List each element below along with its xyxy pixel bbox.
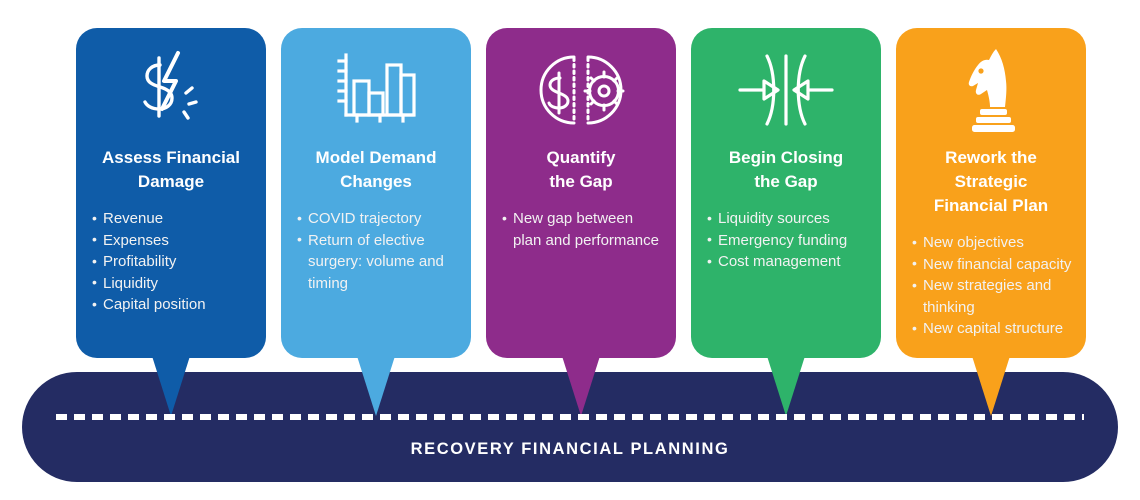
card-pointer-3 [562, 356, 600, 416]
card-title: Begin Closing the Gap [691, 146, 881, 194]
list-item: Liquidity sources [707, 208, 869, 230]
step-card-model-demand-changes[interactable]: Model Demand Changes COVID trajectory Re… [281, 28, 471, 358]
card-bullet-list: Liquidity sources Emergency funding Cost… [691, 208, 881, 273]
list-item: Return of elective surgery: volume and t… [297, 230, 459, 295]
step-card-quantify-the-gap[interactable]: Quantify the Gap New gap between plan an… [486, 28, 676, 358]
step-card-rework-the-strategic-financial-plan[interactable]: Rework the Strategic Financial Plan New … [896, 28, 1086, 358]
card-pointer-5 [972, 356, 1010, 416]
bar-chart-icon [281, 28, 471, 146]
card-bullet-list: New gap between plan and performance [486, 208, 676, 251]
list-item: New financial capacity [912, 254, 1074, 276]
dollar-lightning-icon [76, 28, 266, 146]
list-item: Profitability [92, 251, 254, 273]
dollar-gear-split-circle-icon [486, 28, 676, 146]
list-item: New gap between plan and performance [502, 208, 664, 251]
list-item: New capital structure [912, 318, 1074, 340]
card-pointer-4 [767, 356, 805, 416]
card-bullet-list: Revenue Expenses Profitability Liquidity… [76, 208, 266, 316]
card-pointer-1 [152, 356, 190, 416]
card-bullet-list: New objectives New financial capacity Ne… [896, 232, 1086, 340]
arrows-closing-gap-icon [691, 28, 881, 146]
card-bullet-list: COVID trajectory Return of elective surg… [281, 208, 471, 294]
list-item: COVID trajectory [297, 208, 459, 230]
list-item: Cost management [707, 251, 869, 273]
list-item: Expenses [92, 230, 254, 252]
chess-knight-icon [896, 28, 1086, 146]
step-card-assess-financial-damage[interactable]: Assess Financial Damage Revenue Expenses… [76, 28, 266, 358]
card-title: Rework the Strategic Financial Plan [896, 146, 1086, 218]
list-item: Capital position [92, 294, 254, 316]
infographic-canvas: RECOVERY FINANCIAL PLANNING Assess Finan… [0, 0, 1140, 500]
card-title: Assess Financial Damage [76, 146, 266, 194]
card-pointer-2 [357, 356, 395, 416]
card-title: Model Demand Changes [281, 146, 471, 194]
list-item: Emergency funding [707, 230, 869, 252]
step-card-begin-closing-the-gap[interactable]: Begin Closing the Gap Liquidity sources … [691, 28, 881, 358]
dashed-timeline-line [56, 414, 1084, 420]
list-item: Liquidity [92, 273, 254, 295]
list-item: New strategies and thinking [912, 275, 1074, 318]
list-item: Revenue [92, 208, 254, 230]
list-item: New objectives [912, 232, 1074, 254]
card-title: Quantify the Gap [486, 146, 676, 194]
baseline-label: RECOVERY FINANCIAL PLANNING [0, 440, 1140, 459]
